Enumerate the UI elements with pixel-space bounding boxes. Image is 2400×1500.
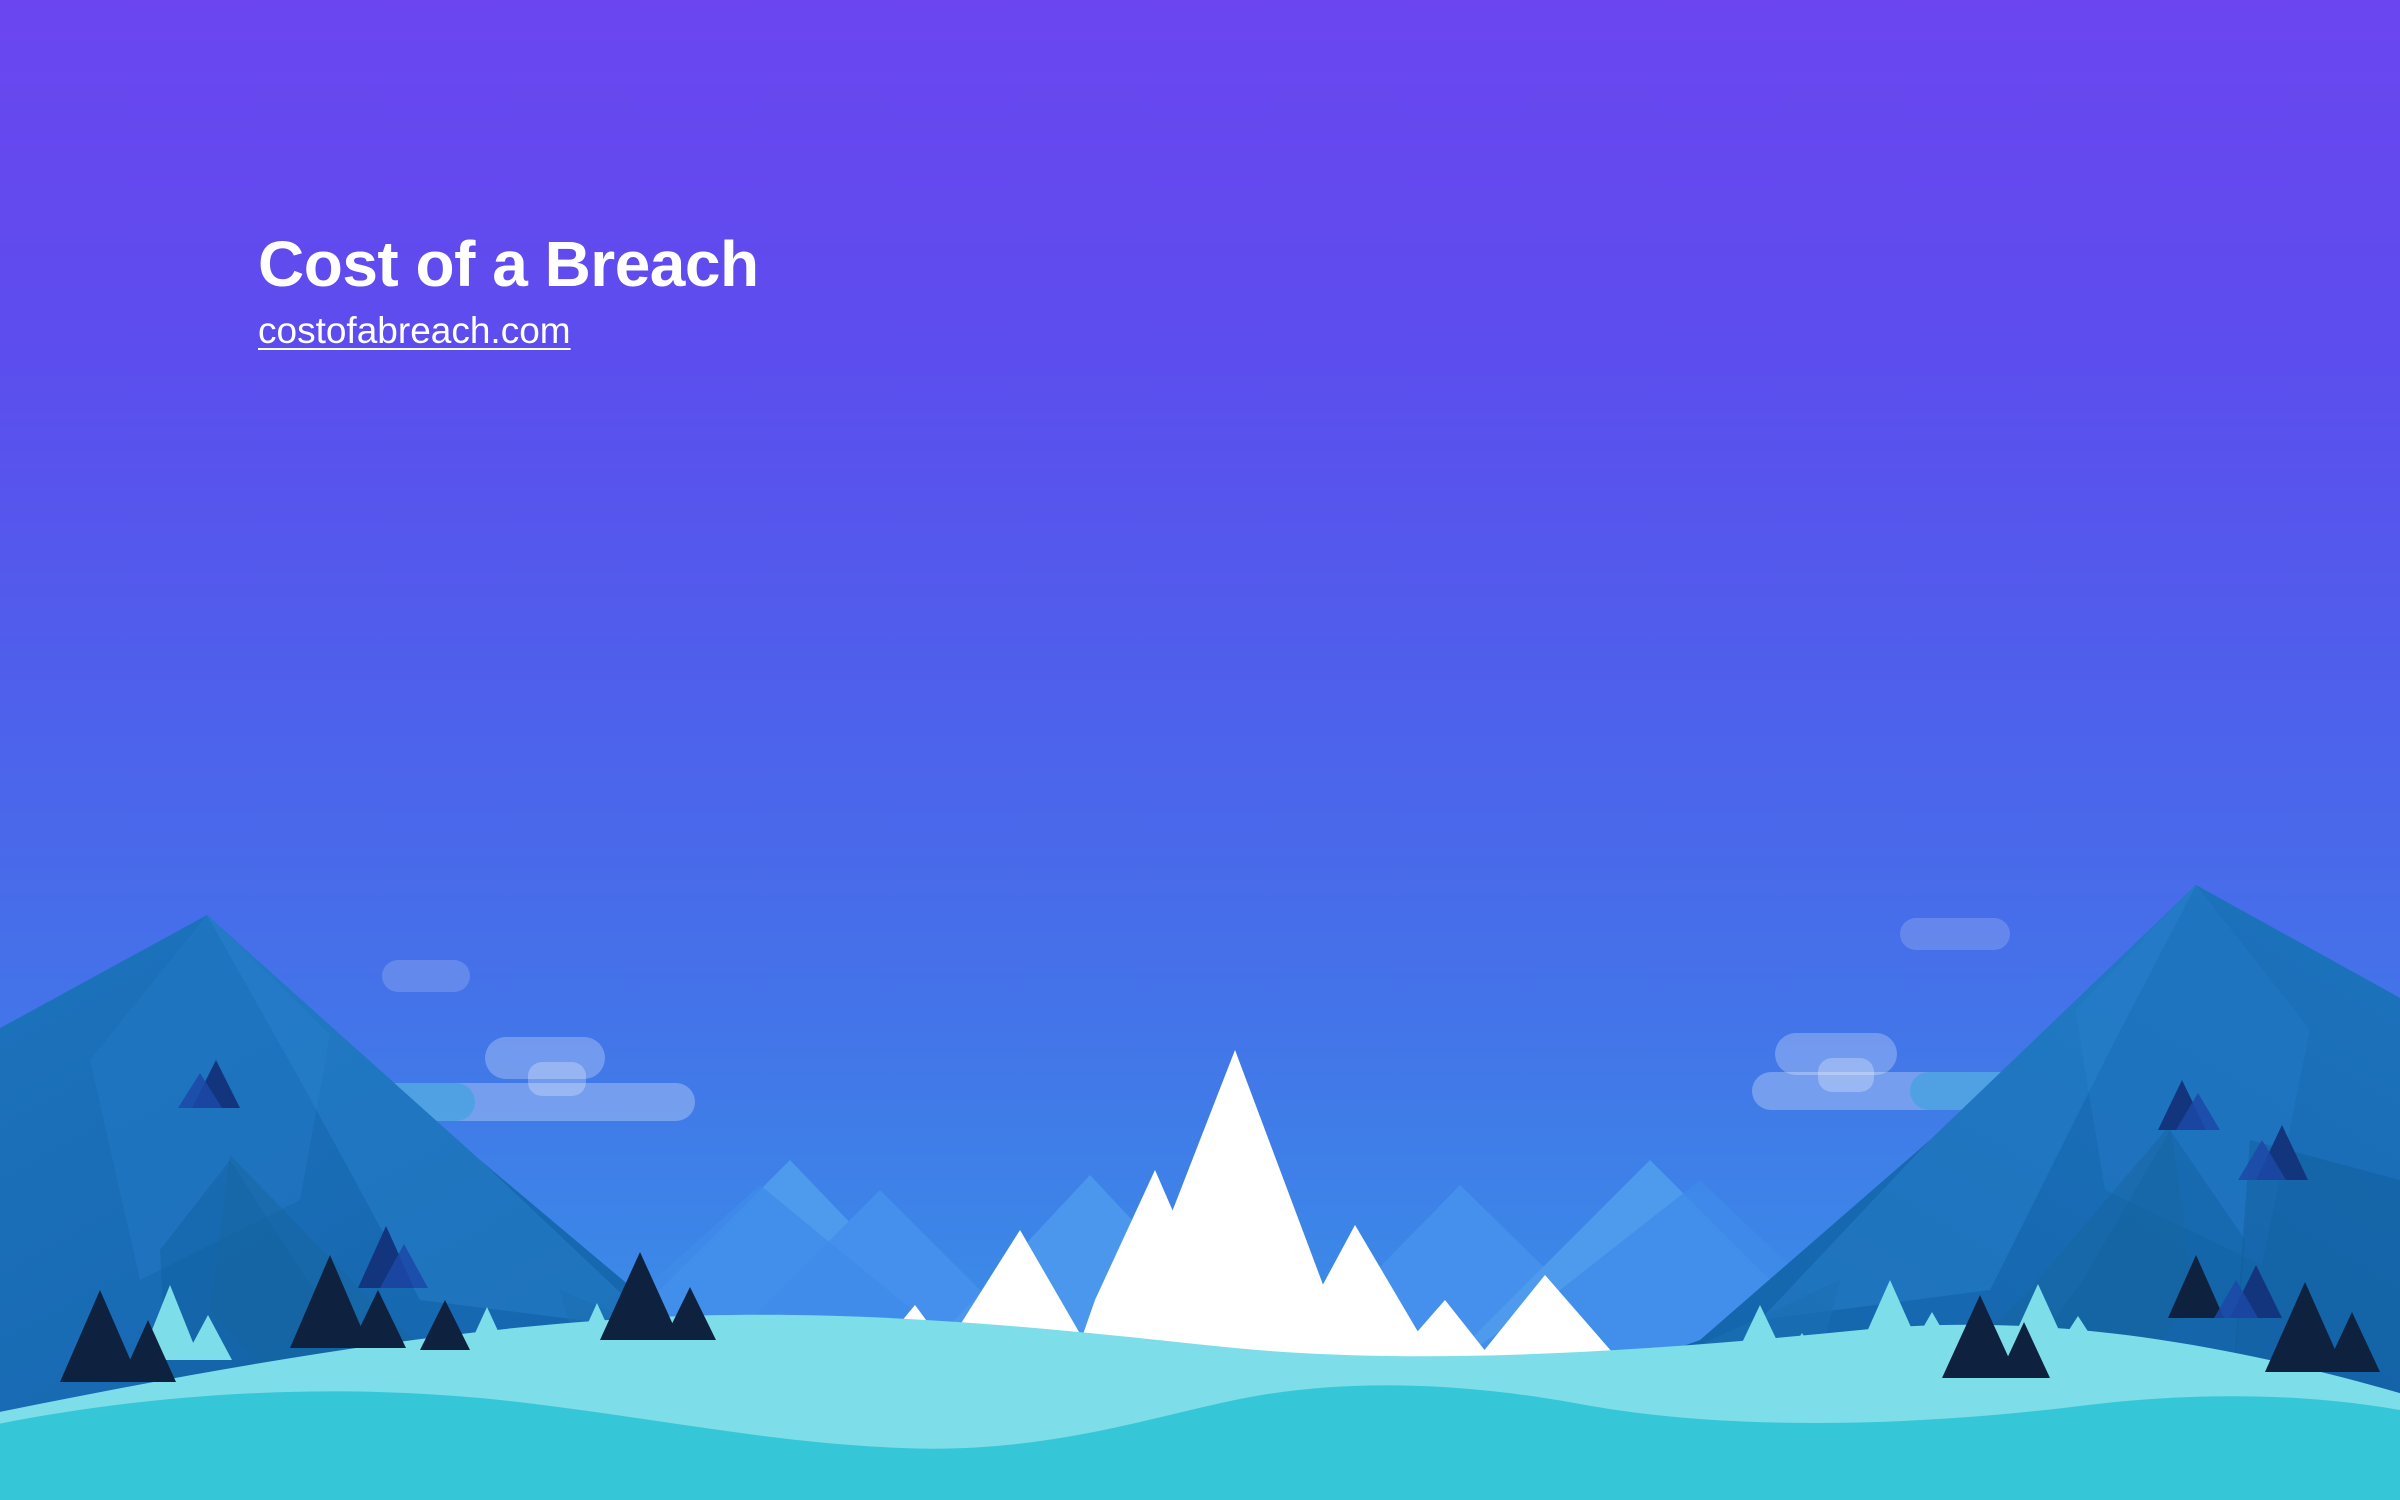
- illustration-banner: Cost of a Breach costofabreach.com: [0, 0, 2400, 1500]
- page-title: Cost of a Breach: [258, 232, 759, 297]
- brand-block: Cost of a Breach costofabreach.com: [258, 232, 759, 352]
- cloud-small-upper-left: [382, 960, 470, 992]
- landscape-illustration: [0, 0, 2400, 1500]
- site-link[interactable]: costofabreach.com: [258, 311, 571, 352]
- cloud-small-upper-right: [1900, 918, 2010, 950]
